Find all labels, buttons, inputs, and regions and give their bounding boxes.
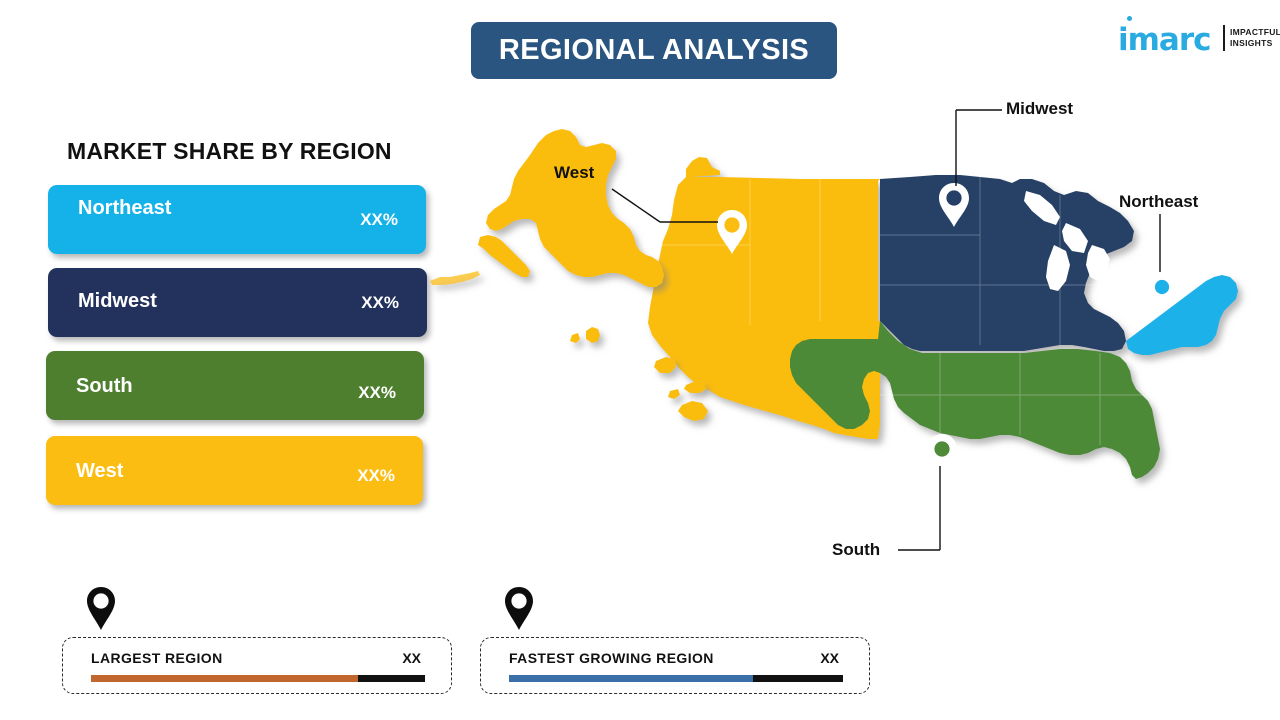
callout-label-west: West <box>554 163 594 183</box>
slide-root: REGIONAL ANALYSIS imarc IMPACTFUL INSIGH… <box>0 0 1280 720</box>
callout-label-south: South <box>832 540 880 560</box>
callout-label-northeast: Northeast <box>1119 192 1198 212</box>
callout-label-midwest: Midwest <box>1006 99 1073 119</box>
callout-leader-lines <box>0 0 1280 720</box>
